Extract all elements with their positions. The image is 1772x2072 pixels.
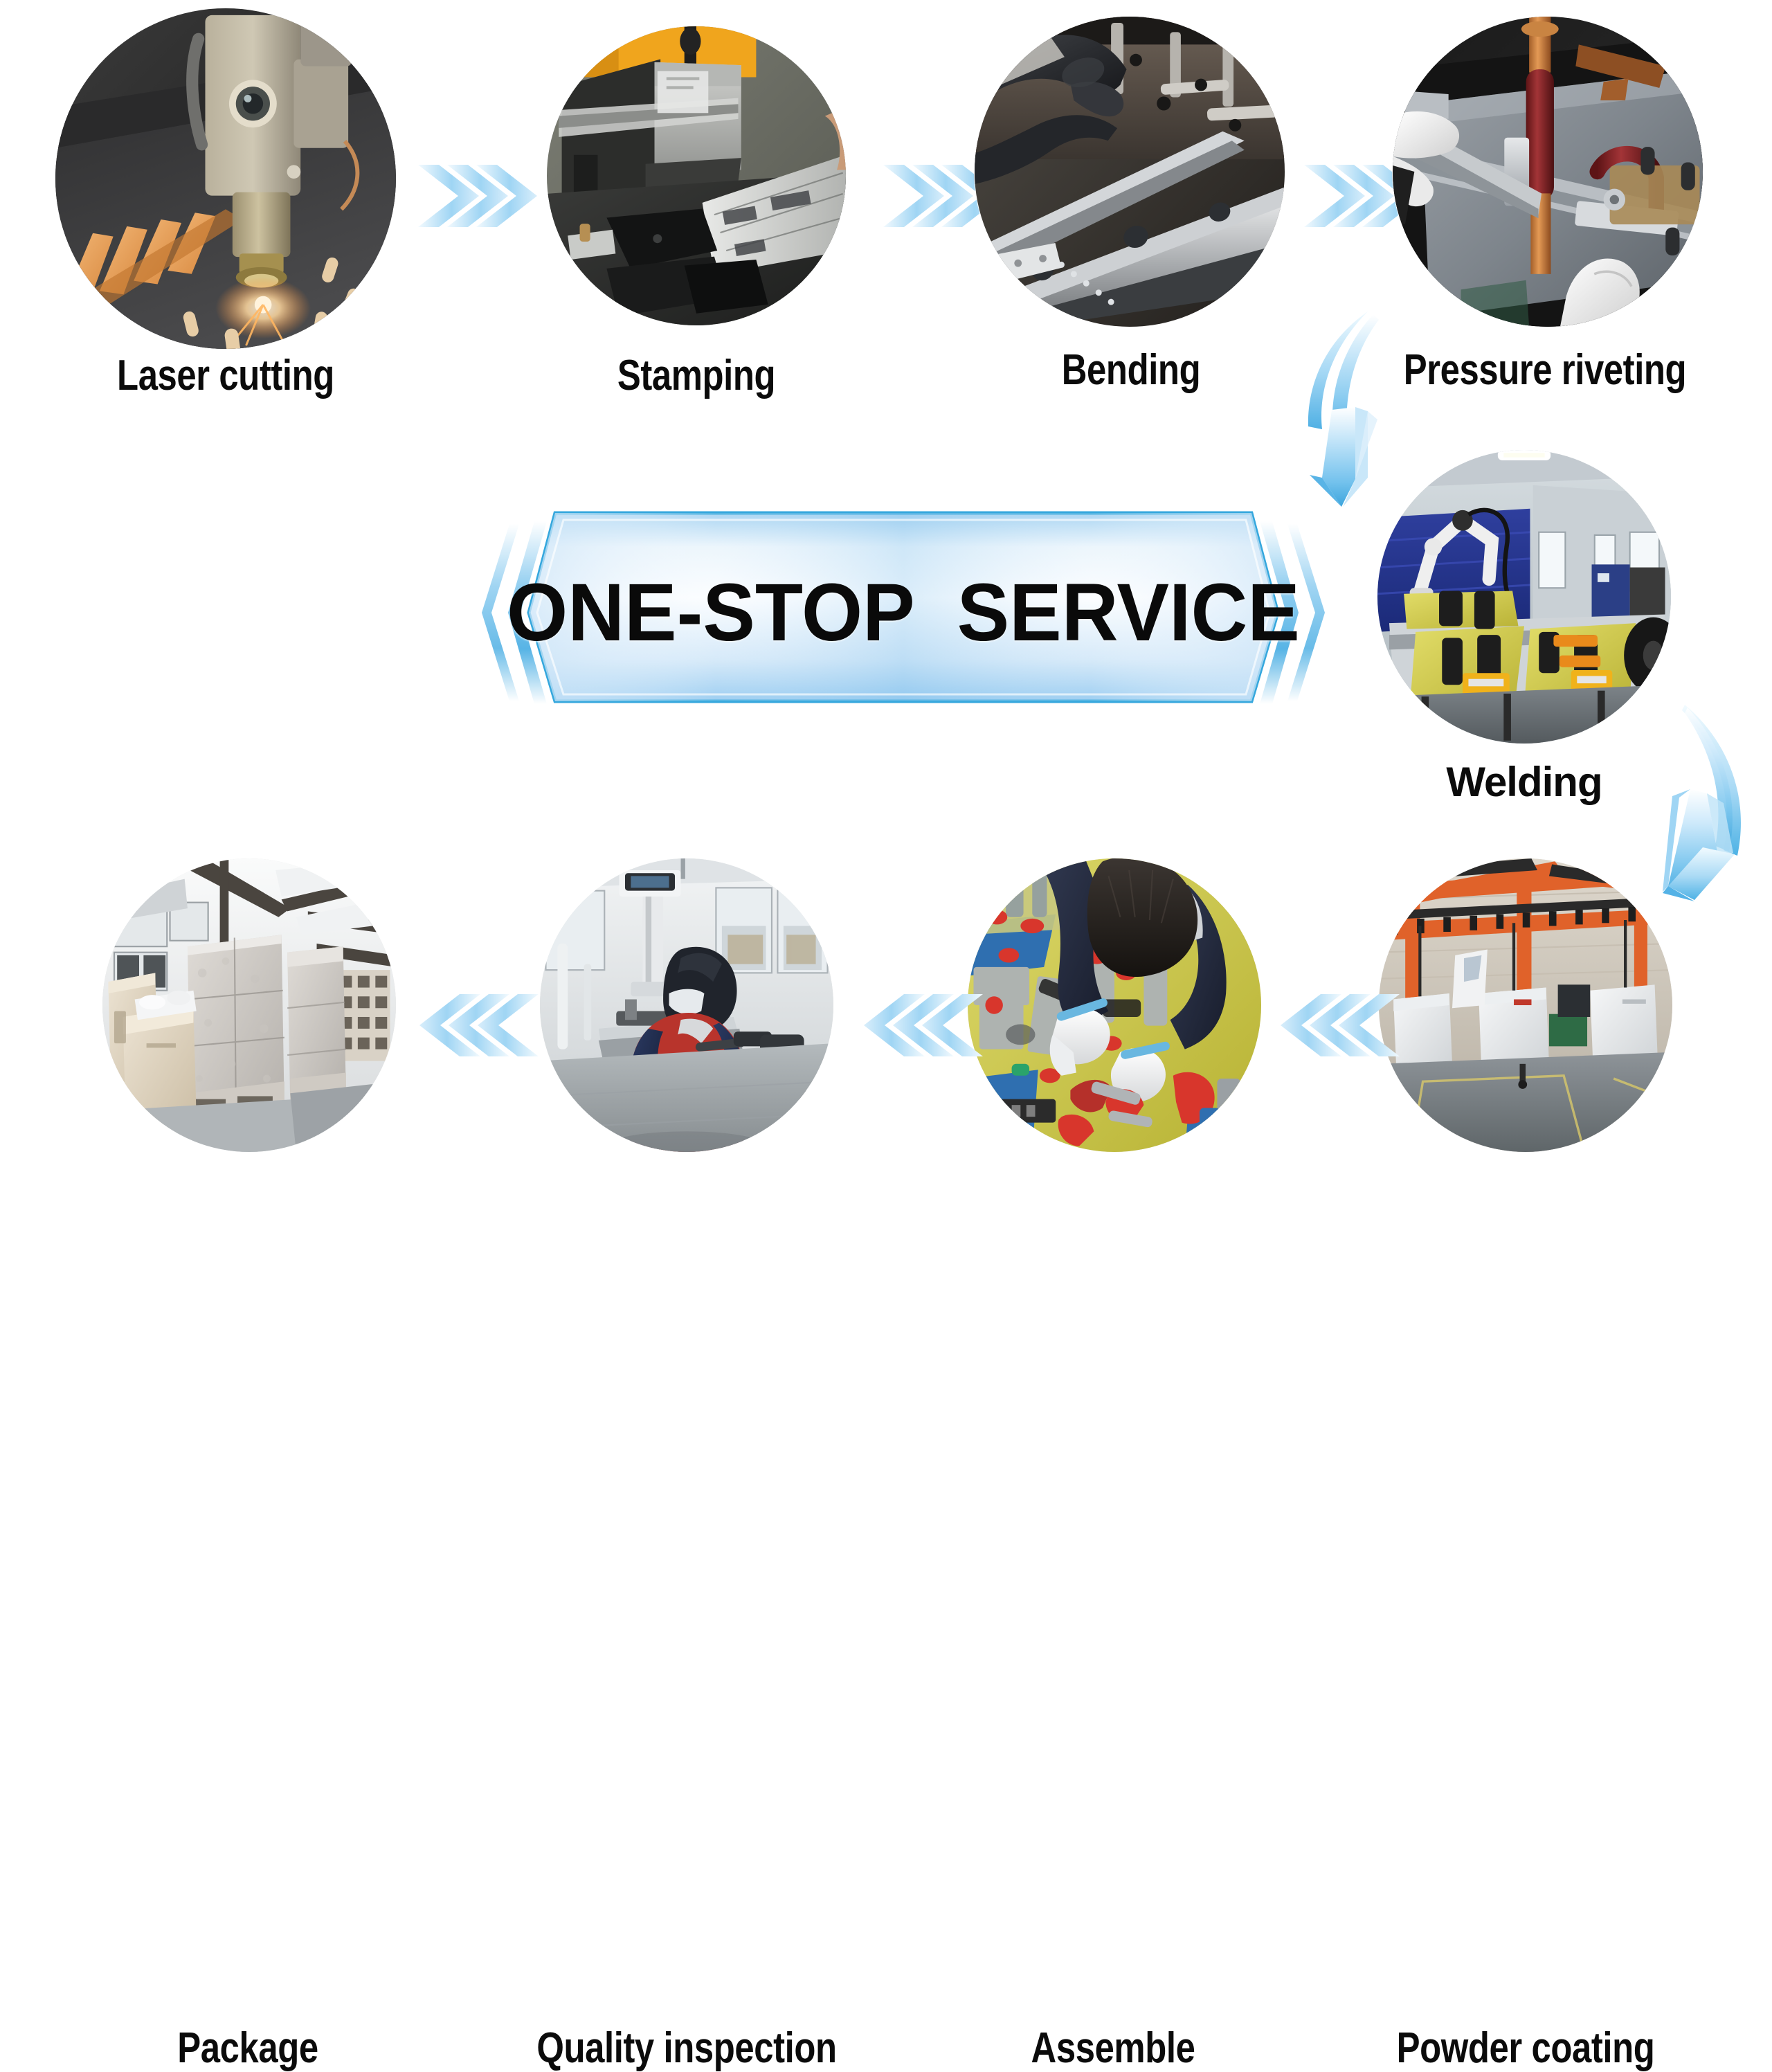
stamping-photo (547, 26, 846, 325)
center-banner: ONE-STOP SERVICE (471, 509, 1336, 717)
connector-riveting-to-welding (1301, 305, 1440, 512)
connector-assemble-to-quality (857, 983, 986, 1067)
banner-title: ONE-STOP SERVICE (488, 509, 1319, 717)
process-flow-diagram: Laser cutting (0, 0, 1772, 1263)
bending-photo (975, 17, 1285, 327)
step-label: Powder coating (1343, 2027, 1708, 2070)
step-label: Stamping (523, 354, 870, 397)
step-label: Package (78, 2027, 418, 2070)
assemble-photo (968, 858, 1261, 1152)
step-label: Laser cutting (52, 354, 399, 397)
package-photo (102, 858, 396, 1152)
step-label: Quality inspection (493, 2027, 881, 2070)
quality-inspection-photo (540, 858, 833, 1152)
connector-laser-to-stamping (415, 154, 544, 238)
step-label: Assemble (943, 2027, 1283, 2070)
step-label: Bending (957, 349, 1305, 392)
powder-coating-photo (1379, 858, 1672, 1152)
connector-welding-to-powder (1652, 692, 1772, 914)
welding-photo (1377, 450, 1671, 744)
pressure-riveting-photo (1393, 17, 1703, 327)
connector-quality-to-package (413, 983, 541, 1067)
connector-powder-to-assemble (1274, 983, 1402, 1067)
laser-cutting-photo (55, 8, 396, 349)
